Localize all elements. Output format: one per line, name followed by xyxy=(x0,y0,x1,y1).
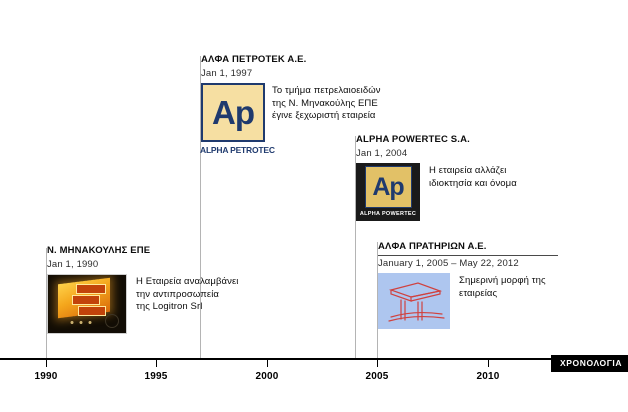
logo-wordmark: ALPHA POWERTEC xyxy=(360,211,416,217)
alpha-petrotec-logo: Ap ALPHA PETROTEC xyxy=(201,83,263,155)
axis-tick-2005 xyxy=(377,360,378,367)
alpha-powertec-logo: Ap ALPHA POWERTEC xyxy=(356,163,420,221)
axis-tick-2010 xyxy=(488,360,489,367)
event-title: ΑΛΦΑ ΠΡΑΤΗΡΙΩΝ Α.Ε. xyxy=(378,241,558,256)
event-description: Σημερινή μορφή της εταιρείας xyxy=(459,273,558,300)
timeline-event-powertec[interactable]: ALPHA POWERTEC S.A. Jan 1, 2004 Ap ALPHA… xyxy=(356,134,517,221)
event-title: ALPHA POWERTEC S.A. xyxy=(356,134,517,146)
timeline-infographic: Ν. ΜΗΝΑΚΟΥΛΗΣ ΕΠΕ Jan 1, 1990 Η Εταιρεία… xyxy=(0,0,628,412)
axis-label-2000: 2000 xyxy=(255,371,278,382)
axis-label-1995: 1995 xyxy=(144,371,167,382)
event-description: Η Εταιρεία αναλαμβάνει την αντιπροσωπεία… xyxy=(136,274,239,314)
event-description: Το τμήμα πετρελαιοειδών της Ν. Μηνακούλη… xyxy=(272,83,381,123)
timeline-axis-line xyxy=(0,358,628,360)
timeline-event-petrotec[interactable]: ΑΛΦΑ ΠΕΤΡΟΤΕΚ Α.Ε. Jan 1, 1997 Ap ALPHA … xyxy=(201,54,381,155)
timeline-event-minakoulis[interactable]: Ν. ΜΗΝΑΚΟΥΛΗΣ ΕΠΕ Jan 1, 1990 Η Εταιρεία… xyxy=(47,245,239,334)
timeline-axis-badge: ΧΡΟΝΟΛΟΓΙΑ xyxy=(551,355,628,372)
event-title: Ν. ΜΗΝΑΚΟΥΛΗΣ ΕΠΕ xyxy=(47,245,239,257)
event-title: ΑΛΦΑ ΠΕΤΡΟΤΕΚ Α.Ε. xyxy=(201,54,381,66)
event-date: Jan 1, 2004 xyxy=(356,147,517,160)
axis-tick-1990 xyxy=(46,360,47,367)
axis-tick-1995 xyxy=(156,360,157,367)
axis-label-2010: 2010 xyxy=(476,371,499,382)
axis-tick-2000 xyxy=(267,360,268,367)
axis-label-1990: 1990 xyxy=(34,371,57,382)
logo-wordmark: ALPHA PETROTEC xyxy=(200,145,264,155)
event-date: Jan 1, 1990 xyxy=(47,258,239,271)
event-date: January 1, 2005 – May 22, 2012 xyxy=(378,257,558,270)
logo-mark: Ap xyxy=(372,174,403,200)
logo-mark: Ap xyxy=(212,96,254,130)
event-description: Η εταιρεία αλλάζει ιδιοκτησία και όνομα xyxy=(429,163,517,190)
axis-label-2005: 2005 xyxy=(365,371,388,382)
event-date: Jan 1, 1997 xyxy=(201,67,381,80)
fuel-pump-photo xyxy=(47,274,127,334)
station-canopy-sketch xyxy=(378,273,450,329)
timeline-event-pratirion[interactable]: ΑΛΦΑ ΠΡΑΤΗΡΙΩΝ Α.Ε. January 1, 2005 – Ma… xyxy=(378,241,558,329)
